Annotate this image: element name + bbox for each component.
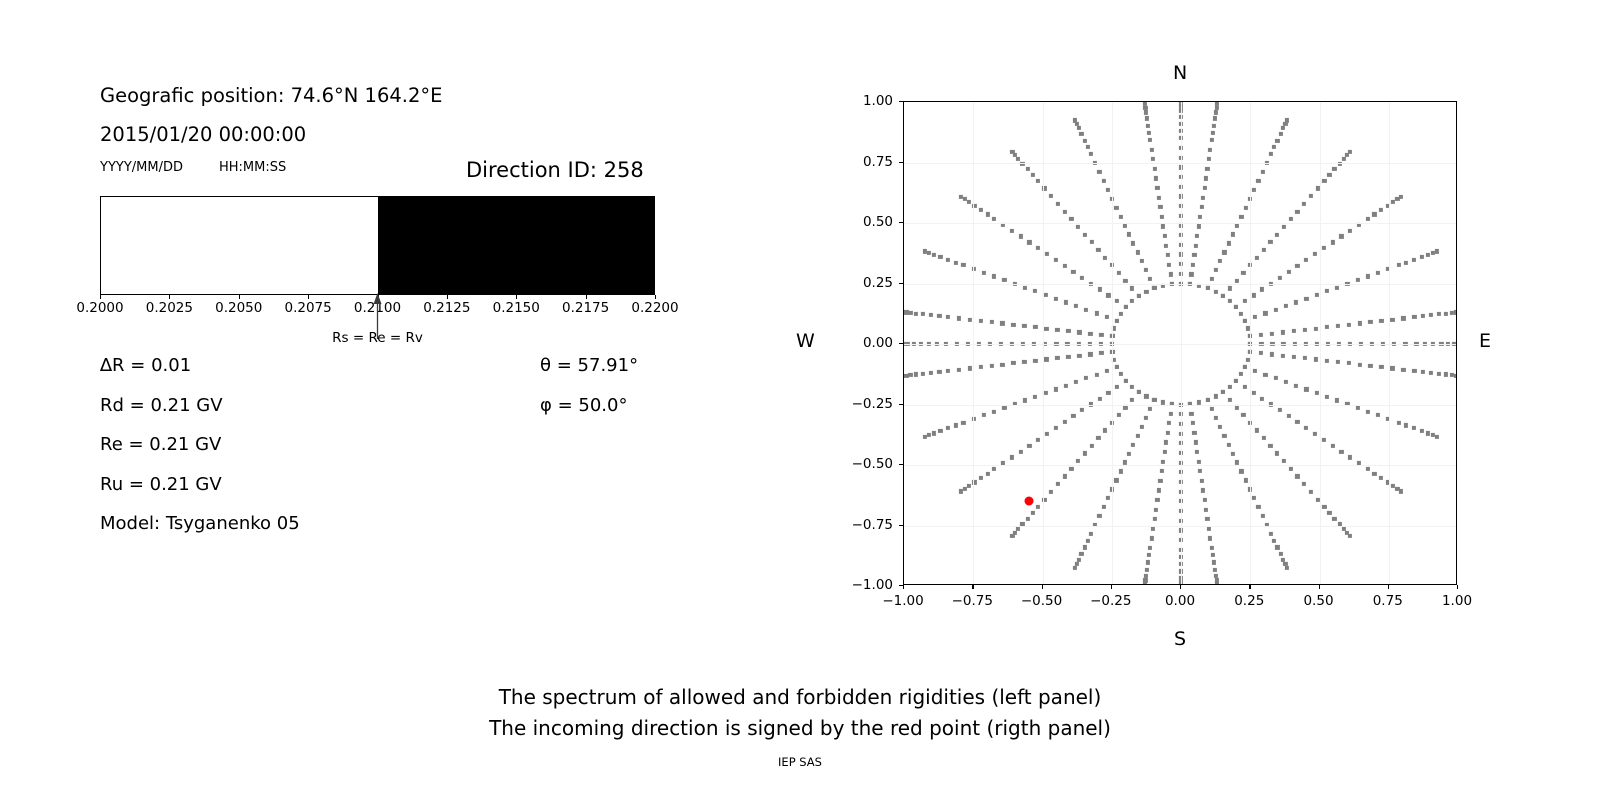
scatter-point	[1010, 228, 1014, 232]
y-axis-tick-label: 1.00	[841, 93, 893, 109]
y-axis-tick	[899, 101, 903, 102]
scatter-point	[1372, 472, 1376, 476]
compass-east-label: E	[1479, 330, 1491, 352]
scatter-point	[1239, 214, 1243, 218]
scatter-point	[1167, 421, 1171, 425]
scatter-point	[1127, 232, 1131, 236]
gridline-horizontal	[904, 465, 1456, 466]
scatter-point	[1151, 157, 1155, 161]
scatter-point	[1256, 505, 1260, 509]
scatter-point	[1197, 459, 1201, 463]
datetime-label: 2015/01/20 00:00:00	[100, 123, 306, 146]
geographic-position-label: Geografic position: 74.6°N 164.2°E	[100, 84, 442, 107]
scatter-point	[1062, 264, 1066, 268]
scatter-point	[1426, 253, 1430, 257]
scatter-point	[1399, 489, 1403, 493]
scatter-point	[1027, 444, 1031, 448]
scatter-point	[1143, 102, 1147, 106]
parameter-left-2: Re = 0.21 GV	[100, 434, 221, 455]
spectrum-tick-label: 0.2075	[285, 300, 332, 316]
scatter-point	[1315, 391, 1319, 395]
scatter-point	[1379, 319, 1383, 323]
scatter-point	[1167, 263, 1171, 267]
scatter-point	[1064, 300, 1068, 304]
parameter-right-1: φ = 50.0°	[540, 395, 627, 416]
scatter-point	[954, 260, 958, 264]
scatter-point	[1215, 582, 1219, 585]
scatter-point	[961, 421, 965, 425]
scatter-point	[1454, 310, 1457, 314]
scatter-point	[1275, 545, 1279, 549]
scatter-point	[1269, 532, 1273, 536]
scatter-point	[1000, 321, 1004, 325]
scatter-point	[1454, 373, 1457, 377]
scatter-point	[1309, 490, 1313, 494]
scatter-point	[1235, 460, 1239, 464]
scatter-point	[1214, 110, 1218, 114]
x-axis-tick-label: −1.00	[882, 593, 923, 609]
spectrum-tick	[586, 295, 587, 299]
scatter-point	[1252, 188, 1256, 192]
scatter-point	[1189, 272, 1193, 276]
scatter-point	[982, 413, 986, 417]
scatter-point	[1148, 138, 1152, 142]
scatter-point	[1368, 364, 1372, 368]
scatter-point	[1231, 451, 1235, 455]
scatter-point	[1279, 552, 1283, 556]
scatter-point	[1118, 214, 1122, 218]
scatter-point	[1263, 372, 1267, 376]
scatter-point	[1325, 395, 1329, 399]
scatter-point	[1419, 255, 1423, 259]
scatter-point	[1396, 421, 1400, 425]
scatter-point	[1090, 444, 1094, 448]
parameter-right-0: θ = 57.91°	[540, 355, 638, 376]
scatter-point	[908, 311, 912, 315]
scatter-point	[1088, 331, 1092, 335]
x-axis-tick-label: 0.75	[1373, 593, 1403, 609]
scatter-point	[1044, 326, 1048, 330]
spectrum-x-axis: 0.20000.20250.20500.20750.21000.21250.21…	[100, 295, 655, 325]
scatter-point	[1153, 517, 1157, 521]
scatter-point	[989, 320, 993, 324]
scatter-point	[1325, 289, 1329, 293]
spectrum-tick	[169, 295, 170, 299]
scatter-point	[1115, 299, 1119, 303]
scatter-point	[1160, 469, 1164, 473]
scatter-point	[1221, 390, 1225, 394]
scatter-point	[1222, 434, 1226, 438]
scatter-point	[1140, 425, 1144, 429]
scatter-point	[1158, 205, 1162, 209]
scatter-point	[927, 433, 931, 437]
scatter-point	[1077, 354, 1081, 358]
scatter-point	[1412, 426, 1416, 430]
scatter-point	[1390, 318, 1394, 322]
spectrum-tick-label: 0.2150	[493, 300, 540, 316]
scatter-point	[1204, 176, 1208, 180]
spectrum-tick	[308, 295, 309, 299]
scatter-point	[1157, 196, 1161, 200]
scatter-point	[1348, 150, 1352, 154]
scatter-point	[1189, 411, 1193, 415]
scatter-point	[1115, 365, 1119, 369]
scatter-point	[992, 410, 996, 414]
scatter-point	[1144, 394, 1148, 398]
scatter-point	[1099, 333, 1103, 337]
scatter-point	[959, 489, 963, 493]
scatter-point	[1166, 253, 1170, 257]
scatter-point	[1278, 276, 1282, 280]
x-axis-tick	[1457, 585, 1458, 589]
scatter-point	[1211, 131, 1215, 135]
caption-line-2: The incoming direction is signed by the …	[0, 713, 1600, 744]
scatter-point	[1262, 436, 1266, 440]
scatter-point	[1281, 330, 1285, 334]
scatter-point	[1302, 328, 1306, 332]
scatter-point	[1269, 152, 1273, 156]
gridline-vertical	[1043, 102, 1044, 584]
scatter-point	[1205, 398, 1209, 402]
scatter-point	[1079, 552, 1083, 556]
scatter-point	[1302, 202, 1306, 206]
scatter-point	[1010, 455, 1014, 459]
scatter-point	[1036, 505, 1040, 509]
scatter-point	[1123, 223, 1127, 227]
x-axis-tick	[1042, 585, 1043, 589]
scatter-point	[1379, 365, 1383, 369]
scatter-point	[1130, 398, 1134, 402]
y-axis-tick-label: −0.75	[841, 517, 893, 533]
scatter-point	[1102, 179, 1106, 183]
scatter-point	[1198, 215, 1202, 219]
scatter-point	[1339, 449, 1343, 453]
scatter-point	[1281, 354, 1285, 358]
spectrum-panel: Geografic position: 74.6°N 164.2°E 2015/…	[0, 0, 720, 660]
scatter-point	[1357, 362, 1361, 366]
scatter-point	[1094, 311, 1098, 315]
scatter-point	[1239, 372, 1243, 376]
scatter-point	[1049, 490, 1053, 494]
scatter-point	[1161, 224, 1165, 228]
scatter-point	[1160, 215, 1164, 219]
scatter-point	[1282, 459, 1286, 463]
scatter-point	[937, 314, 941, 318]
scatter-point	[1444, 372, 1448, 376]
scatter-point	[1210, 407, 1214, 411]
scatter-point	[1033, 359, 1037, 363]
scatter-point	[1211, 553, 1215, 557]
scatter-point	[1130, 299, 1134, 303]
scatter-point	[1212, 124, 1216, 128]
scatter-point	[1130, 286, 1134, 290]
scatter-point	[1214, 394, 1218, 398]
scatter-point	[1292, 355, 1296, 359]
y-axis-tick	[899, 162, 903, 163]
scatter-point	[1158, 479, 1162, 483]
scatter-point	[1119, 312, 1123, 316]
scatter-point	[1117, 413, 1121, 417]
scatter-point	[1272, 145, 1276, 149]
scatter-point	[1084, 376, 1088, 380]
scatter-point	[1086, 145, 1090, 149]
scatter-point	[1253, 369, 1257, 373]
scatter-point	[1146, 124, 1150, 128]
scatter-point	[1404, 260, 1408, 264]
scatter-point	[1366, 410, 1370, 414]
scatter-point	[1270, 352, 1274, 356]
scatter-point	[1154, 507, 1158, 511]
scatter-point	[1322, 246, 1326, 250]
x-axis-tick-label: 0.25	[1234, 593, 1264, 609]
scatter-point	[1208, 536, 1212, 540]
spectrum-tick	[100, 295, 101, 299]
scatter-point	[1200, 205, 1204, 209]
scatter-point	[1218, 425, 1222, 429]
scatter-point	[1302, 482, 1306, 486]
scatter-point	[1148, 546, 1152, 550]
scatter-point	[1239, 469, 1243, 473]
scatter-point	[1332, 167, 1336, 171]
scatter-point	[1135, 250, 1139, 254]
scatter-point	[1268, 444, 1272, 448]
scatter-point	[1140, 259, 1144, 263]
scatter-point	[1192, 253, 1196, 257]
scatter-point	[1157, 488, 1161, 492]
scatter-point	[1076, 459, 1080, 463]
scatter-point	[1063, 209, 1067, 213]
y-axis-tick	[899, 525, 903, 526]
scatter-point	[904, 310, 908, 314]
scatter-point	[923, 435, 927, 439]
x-axis-tick	[1388, 585, 1389, 589]
scatter-point	[982, 271, 986, 275]
scatter-point	[1205, 286, 1209, 290]
scatter-point	[904, 373, 908, 377]
scatter-point	[1145, 567, 1149, 571]
x-axis-tick-label: 0.00	[1165, 593, 1195, 609]
y-axis-tick	[899, 464, 903, 465]
scatter-point	[1191, 263, 1195, 267]
scatter-point	[1202, 498, 1206, 502]
scatter-point	[1114, 478, 1118, 482]
x-axis-tick-label: 0.50	[1303, 593, 1333, 609]
scatter-point	[1198, 469, 1202, 473]
scatter-point	[1089, 152, 1093, 156]
scatter-point	[1031, 173, 1035, 177]
parameter-left-3: Ru = 0.21 GV	[100, 474, 222, 495]
gridline-horizontal	[904, 344, 1456, 345]
scatter-point	[1103, 256, 1107, 260]
scatter-point	[1275, 451, 1279, 455]
parameter-left-1: Rd = 0.21 GV	[100, 395, 223, 416]
scatter-point	[1287, 270, 1291, 274]
scatter-point	[1161, 459, 1165, 463]
scatter-point	[1221, 294, 1225, 298]
scatter-point	[1191, 421, 1195, 425]
scatter-point	[1063, 474, 1067, 478]
scatter-point	[1163, 234, 1167, 238]
scatter-point	[1259, 351, 1263, 355]
scatter-point	[1045, 432, 1049, 436]
scatter-point	[1335, 360, 1339, 364]
scatter-point	[937, 370, 941, 374]
scatter-point	[979, 208, 983, 212]
scatter-point	[946, 258, 950, 262]
scatter-point	[1255, 256, 1259, 260]
scatter-point	[1066, 355, 1070, 359]
scatter-point	[1150, 536, 1154, 540]
scatter-point	[1243, 319, 1247, 323]
scatter-point	[1168, 411, 1172, 415]
scatter-point	[1080, 408, 1084, 412]
scatter-point	[1234, 379, 1238, 383]
scatter-point	[1435, 249, 1439, 253]
spectrum-tick-label: 0.2100	[354, 300, 401, 316]
scatter-point	[1074, 304, 1078, 308]
scatter-point	[1098, 287, 1102, 291]
scatter-point	[1043, 293, 1047, 297]
scatter-point	[1148, 277, 1152, 281]
scatter-point	[1294, 384, 1298, 388]
scatter-point	[1044, 357, 1048, 361]
scatter-point	[1214, 268, 1218, 272]
scatter-point	[1106, 188, 1110, 192]
scatter-point	[1366, 274, 1370, 278]
scatter-point	[1279, 132, 1283, 136]
scatter-point	[1152, 286, 1156, 290]
scatter-point	[1103, 428, 1107, 432]
scatter-point	[1348, 228, 1352, 232]
scatter-point	[1322, 179, 1326, 183]
scatter-point	[992, 274, 996, 278]
scatter-point	[1235, 279, 1239, 283]
scatter-point	[1036, 438, 1040, 442]
scatter-point	[1202, 186, 1206, 190]
date-format-hint: YYYY/MM/DD	[100, 160, 183, 175]
scatter-point	[1355, 406, 1359, 410]
scatter-point	[1025, 517, 1029, 521]
scatter-point	[1002, 278, 1006, 282]
scatter-point	[1274, 376, 1278, 380]
scatter-point	[1045, 252, 1049, 256]
scatter-point	[1324, 359, 1328, 363]
scatter-point	[956, 367, 960, 371]
scatter-point	[1135, 434, 1139, 438]
x-axis-tick	[1111, 585, 1112, 589]
y-axis-tick-label: −0.25	[841, 396, 893, 412]
scatter-point	[1124, 379, 1128, 383]
spectrum-tick	[239, 295, 240, 299]
scatter-point	[1357, 321, 1361, 325]
scatter-point	[1084, 308, 1088, 312]
scatter-point	[929, 313, 933, 317]
scatter-point	[1036, 179, 1040, 183]
scatter-point	[1295, 420, 1299, 424]
scatter-point	[1302, 356, 1306, 360]
scatter-point	[967, 484, 971, 488]
scatter-point	[1251, 293, 1255, 297]
scatter-point	[967, 366, 971, 370]
time-format-hint: HH:MM:SS	[219, 160, 286, 175]
scatter-point	[1390, 366, 1394, 370]
scatter-point	[1031, 511, 1035, 515]
scatter-point	[1027, 240, 1031, 244]
scatter-point	[932, 431, 936, 435]
scatter-point	[1144, 110, 1148, 114]
scatter-point	[1144, 290, 1148, 294]
scatter-point	[929, 371, 933, 375]
scatter-point	[1244, 206, 1248, 210]
scatter-point	[932, 253, 936, 257]
scatter-point	[1294, 300, 1298, 304]
scatter-point	[927, 251, 931, 255]
scatter-point	[1097, 170, 1101, 174]
scatter-point	[1080, 276, 1084, 280]
spectrum-tick	[447, 295, 448, 299]
scatter-point	[1376, 413, 1380, 417]
scatter-point	[1335, 285, 1339, 289]
scatter-point	[1287, 414, 1291, 418]
scatter-point	[1239, 312, 1243, 316]
scatter-point	[945, 369, 949, 373]
scatter-point	[1331, 444, 1335, 448]
scatter-point	[1151, 527, 1155, 531]
scatter-point	[1295, 474, 1299, 478]
x-axis-tick	[903, 585, 904, 589]
scatter-point	[1083, 451, 1087, 455]
scatter-point	[1342, 157, 1346, 161]
scatter-point	[1119, 372, 1123, 376]
forbidden-band	[378, 197, 655, 294]
scatter-point	[1131, 241, 1135, 245]
scatter-point	[1285, 565, 1289, 569]
y-axis-tick-label: −0.50	[841, 456, 893, 472]
scatter-point	[1313, 357, 1317, 361]
scatter-point	[1231, 232, 1235, 236]
scatter-point	[1444, 311, 1448, 315]
scatter-point	[986, 472, 990, 476]
scatter-point	[1243, 385, 1247, 389]
scatter-point	[1228, 286, 1232, 290]
scatter-point	[1200, 479, 1204, 483]
scatter-point	[1144, 268, 1148, 272]
scatter-point	[1056, 202, 1060, 206]
scatter-point	[1295, 209, 1299, 213]
scatter-point	[1114, 206, 1118, 210]
gridline-vertical	[1250, 102, 1251, 584]
scatter-point	[1073, 565, 1077, 569]
x-axis-tick	[1180, 585, 1181, 589]
y-axis-tick	[899, 404, 903, 405]
scatter-point	[1366, 217, 1370, 221]
scatter-point	[1214, 290, 1218, 294]
scatter-point	[1127, 451, 1131, 455]
scatter-point	[1348, 534, 1352, 538]
scatter-point	[1218, 259, 1222, 263]
scatter-point	[1256, 179, 1260, 183]
scatter-point	[1071, 414, 1075, 418]
scatter-point	[1401, 367, 1405, 371]
scatter-point	[914, 311, 918, 315]
spectrum-bar	[100, 196, 655, 295]
direction-scatter-plot	[903, 101, 1457, 585]
scatter-point	[1123, 405, 1127, 409]
scatter-point	[1212, 560, 1216, 564]
scatter-point	[1025, 167, 1029, 171]
gridline-vertical	[1181, 102, 1182, 584]
scatter-point	[1022, 360, 1026, 364]
